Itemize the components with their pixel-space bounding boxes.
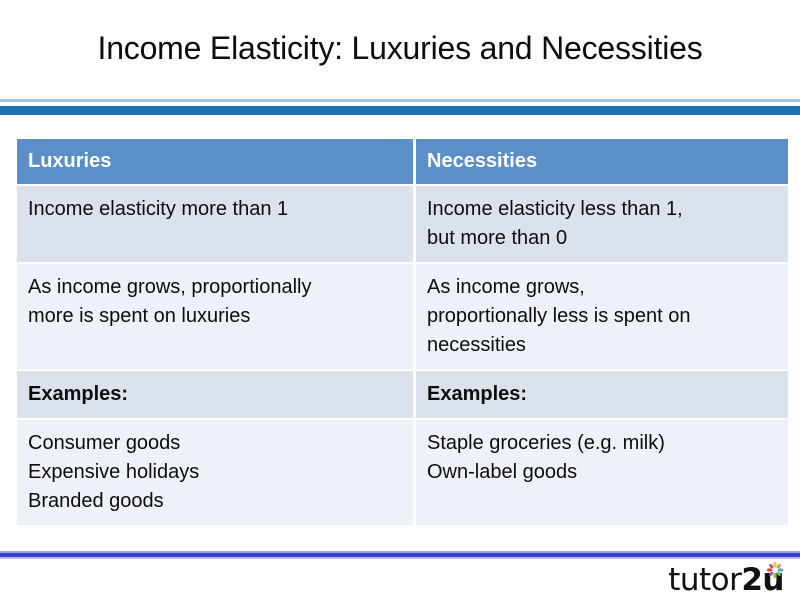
table-cell: Staple groceries (e.g. milk) Own-label g…: [416, 420, 788, 525]
table-cell: Income elasticity less than 1, but more …: [416, 186, 788, 262]
table-cell: As income grows, proportionally less is …: [416, 264, 788, 369]
cell-line: proportionally less is spent on: [427, 302, 776, 331]
cell-line: Branded goods: [28, 487, 401, 516]
table-row-examples: Examples: Examples:: [17, 371, 788, 418]
header-divider-thin: [0, 99, 800, 102]
cell-line: Income elasticity less than 1,: [427, 195, 776, 224]
cell-line: Examples:: [28, 380, 401, 409]
table-row: Income elasticity more than 1 Income ela…: [17, 186, 788, 262]
starburst-icon: [766, 561, 784, 579]
cell-line: Examples:: [427, 380, 776, 409]
brand-name-part1: tutor: [668, 562, 741, 598]
table-cell: Examples:: [17, 371, 413, 418]
table-row: Consumer goods Expensive holidays Brande…: [17, 420, 788, 525]
cell-line: more is spent on luxuries: [28, 302, 401, 331]
cell-line: Consumer goods: [28, 429, 401, 458]
table-header-row: Luxuries Necessities: [17, 139, 788, 184]
page-title: Income Elasticity: Luxuries and Necessit…: [0, 28, 800, 68]
table-header-label: Necessities: [427, 147, 776, 176]
table-row: As income grows, proportionally more is …: [17, 264, 788, 369]
cell-line: Income elasticity more than 1: [28, 195, 401, 224]
table-header-cell-luxuries: Luxuries: [17, 139, 413, 184]
comparison-table-container: Luxuries Necessities Income elasticity m…: [14, 137, 788, 527]
table-cell: Income elasticity more than 1: [17, 186, 413, 262]
cell-line: Staple groceries (e.g. milk): [427, 429, 776, 458]
brand-logo: tutor2u: [668, 562, 784, 596]
cell-line: necessities: [427, 331, 776, 360]
table-cell: Consumer goods Expensive holidays Brande…: [17, 420, 413, 525]
cell-line: As income grows, proportionally: [28, 273, 401, 302]
cell-line: but more than 0: [427, 224, 776, 253]
brand-wordmark: tutor2u: [668, 565, 784, 596]
table-header-label: Luxuries: [28, 147, 401, 176]
comparison-table: Luxuries Necessities Income elasticity m…: [14, 137, 791, 527]
table-cell: Examples:: [416, 371, 788, 418]
cell-line: As income grows,: [427, 273, 776, 302]
cell-line: Own-label goods: [427, 458, 776, 487]
table-cell: As income grows, proportionally more is …: [17, 264, 413, 369]
cell-line: Expensive holidays: [28, 458, 401, 487]
footer-divider-shadow: [0, 557, 800, 559]
table-header-cell-necessities: Necessities: [416, 139, 788, 184]
header-divider-thick: [0, 106, 800, 115]
